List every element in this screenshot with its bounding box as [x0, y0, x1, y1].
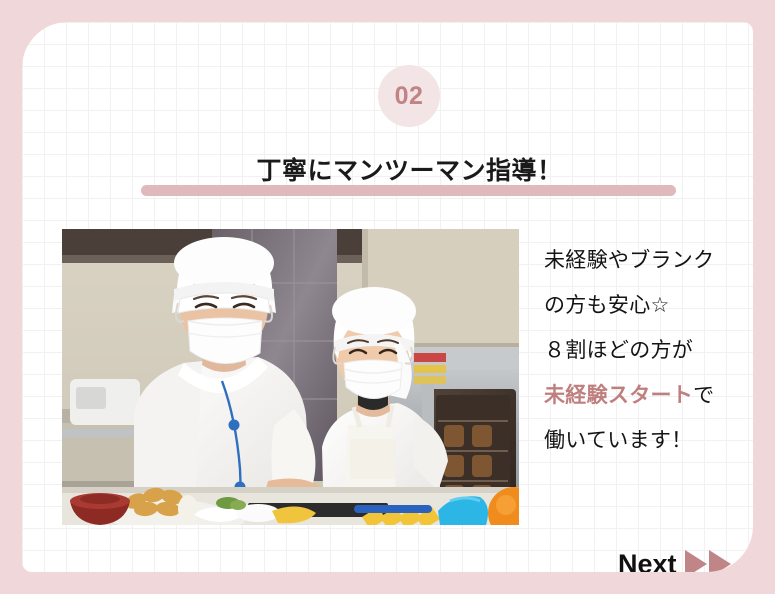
highlight-suffix: で	[693, 384, 714, 407]
slide-card: 02 丁寧にマンツーマン指導！	[0, 0, 775, 594]
body-line-5: 働いています！	[544, 418, 753, 463]
next-button[interactable]: Next	[618, 550, 731, 572]
step-number-badge: 02	[378, 65, 440, 127]
body-copy: 未経験やブランク の方も安心☆ ８割ほどの方が 未経験スタートで 働いています！	[544, 238, 753, 463]
next-label: Next	[618, 551, 677, 573]
slide-panel: 02 丁寧にマンツーマン指導！	[22, 22, 753, 572]
body-line-1: 未経験やブランク	[544, 238, 753, 283]
headline-underline-bar	[141, 185, 676, 196]
next-arrows	[685, 550, 731, 572]
body-line-2: の方も安心☆	[544, 283, 753, 328]
photo-illustration	[62, 229, 519, 525]
body-line-3: ８割ほどの方が	[544, 328, 753, 373]
triangle-right-icon	[685, 550, 707, 572]
headline-container: 丁寧にマンツーマン指導！	[22, 158, 753, 186]
highlight-text: 未経験スタート	[544, 384, 693, 407]
triangle-right-icon-2	[709, 550, 731, 572]
headline-text: 丁寧にマンツーマン指導！	[256, 158, 562, 186]
step-number-label: 02	[395, 84, 424, 109]
kitchen-training-photo	[62, 229, 519, 525]
body-line-4: 未経験スタートで	[544, 373, 753, 418]
